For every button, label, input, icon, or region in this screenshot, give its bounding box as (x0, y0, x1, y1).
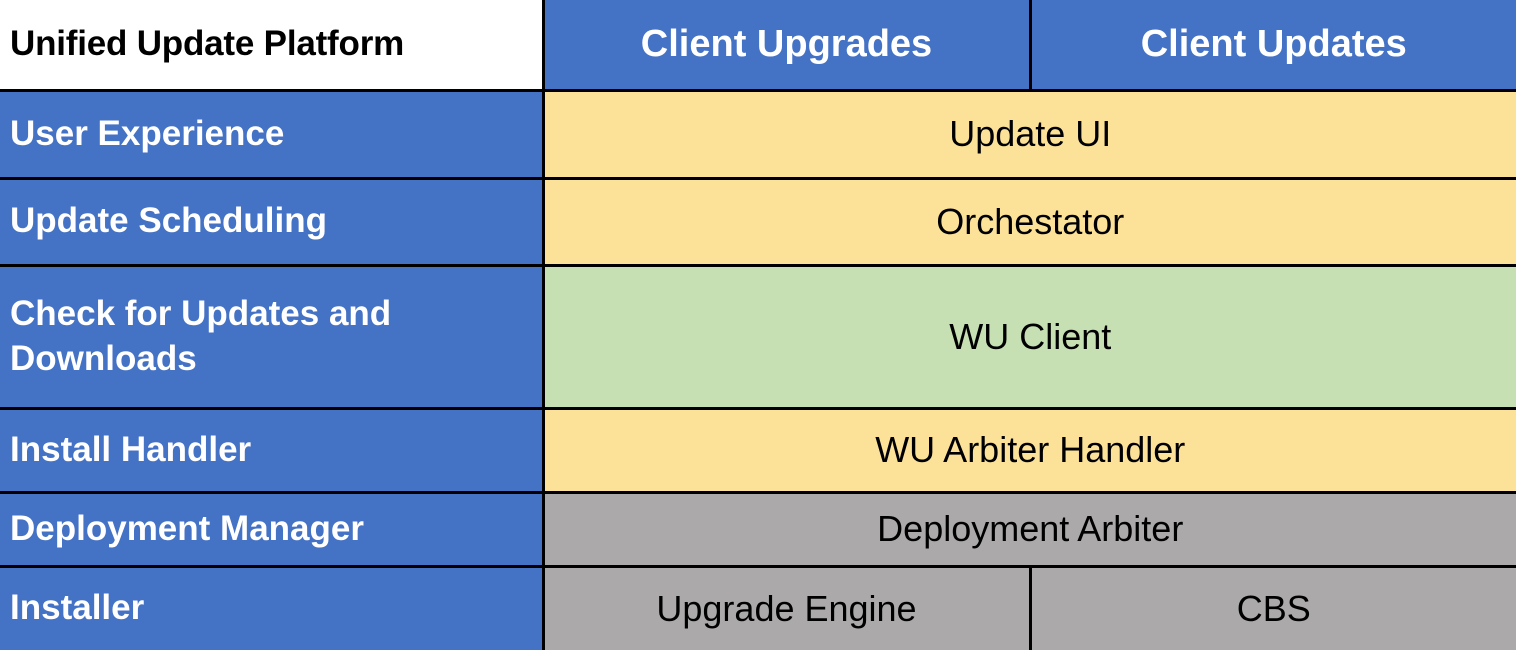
row-label-line-2: Downloads (10, 337, 532, 382)
row-label-installer: Installer (0, 566, 543, 650)
table-row: Installer Upgrade Engine CBS (0, 566, 1516, 650)
row-label-line: Deployment Manager (10, 507, 532, 552)
row-label-install-handler: Install Handler (0, 408, 543, 492)
cell-wu-arbiter-handler: WU Arbiter Handler (543, 408, 1516, 492)
cell-cbs: CBS (1030, 566, 1516, 650)
table-header-row: Unified Update Platform Client Upgrades … (0, 0, 1516, 90)
table-row: User Experience Update UI (0, 90, 1516, 178)
page-title: Unified Update Platform (0, 0, 543, 90)
table-row: Deployment Manager Deployment Arbiter (0, 492, 1516, 566)
cell-update-ui: Update UI (543, 90, 1516, 178)
table-row: Check for Updates and Downloads WU Clien… (0, 265, 1516, 408)
row-label-line: Update Scheduling (10, 199, 532, 244)
row-label-update-scheduling: Update Scheduling (0, 178, 543, 265)
cell-orchestator: Orchestator (543, 178, 1516, 265)
column-header-client-upgrades: Client Upgrades (543, 0, 1030, 90)
row-label-line: Installer (10, 586, 532, 631)
row-label-user-experience: User Experience (0, 90, 543, 178)
row-label-check-for-updates-and-downloads: Check for Updates and Downloads (0, 265, 543, 408)
row-label-line-1: Check for Updates and (10, 292, 532, 337)
table-row: Update Scheduling Orchestator (0, 178, 1516, 265)
cell-deployment-arbiter: Deployment Arbiter (543, 492, 1516, 566)
cell-wu-client: WU Client (543, 265, 1516, 408)
row-label-line: User Experience (10, 112, 532, 157)
unified-update-platform-table: Unified Update Platform Client Upgrades … (0, 0, 1516, 650)
row-label-line: Install Handler (10, 428, 532, 473)
row-label-deployment-manager: Deployment Manager (0, 492, 543, 566)
table-row: Install Handler WU Arbiter Handler (0, 408, 1516, 492)
table-body: Unified Update Platform Client Upgrades … (0, 0, 1516, 650)
cell-upgrade-engine: Upgrade Engine (543, 566, 1030, 650)
column-header-client-updates: Client Updates (1030, 0, 1516, 90)
